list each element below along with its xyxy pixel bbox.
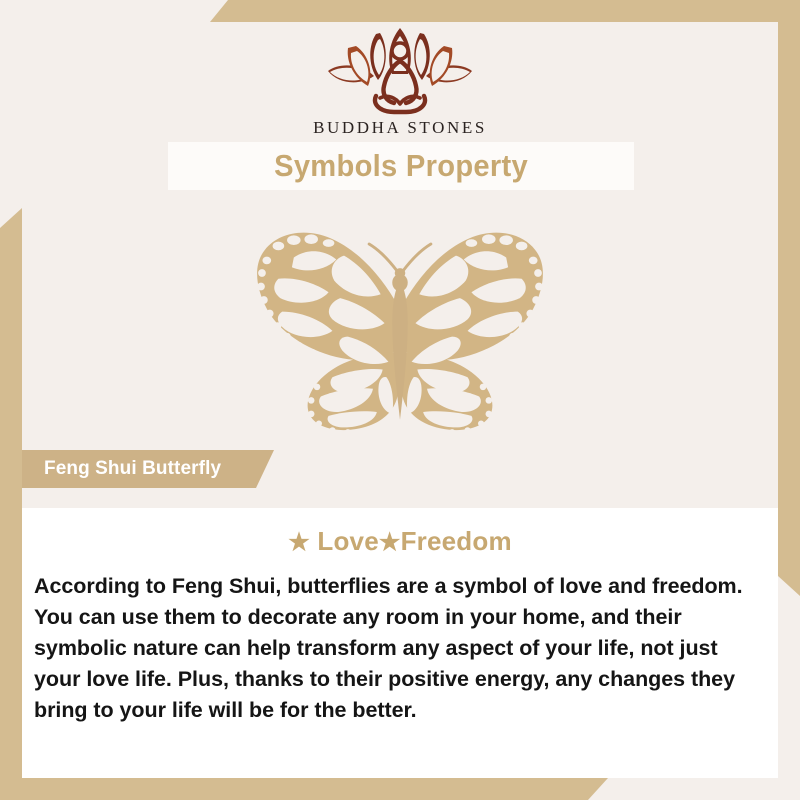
- lotus-meditation-figure-icon: [310, 24, 490, 116]
- frame-right-bar: [778, 0, 800, 596]
- frame-top-bar: [210, 0, 800, 22]
- content-card: ★ Love★Freedom According to Feng Shui, b…: [22, 508, 778, 778]
- content-subtitle: ★ Love★Freedom: [28, 526, 772, 557]
- butterfly-illustration: [22, 208, 778, 448]
- subtitle-word-freedom: Freedom: [401, 526, 512, 556]
- section-label-banner: Feng Shui Butterfly: [22, 450, 274, 488]
- page-body: BUDDHA STONES Symbols Property: [22, 22, 778, 778]
- frame-left-bar: [0, 208, 22, 800]
- title-banner: Symbols Property: [168, 142, 634, 190]
- star-icon-mid: ★: [379, 529, 401, 556]
- subtitle-word-love: Love: [317, 526, 378, 556]
- section-label: Feng Shui Butterfly: [22, 458, 221, 480]
- brand-name: BUDDHA STONES: [313, 118, 487, 138]
- frame-bottom-bar: [0, 778, 608, 800]
- brand-logo: BUDDHA STONES: [22, 24, 778, 138]
- page-title: Symbols Property: [274, 148, 528, 184]
- content-paragraph: According to Feng Shui, butterflies are …: [28, 571, 772, 726]
- star-icon-left: ★: [288, 529, 310, 556]
- butterfly-icon: [235, 217, 565, 439]
